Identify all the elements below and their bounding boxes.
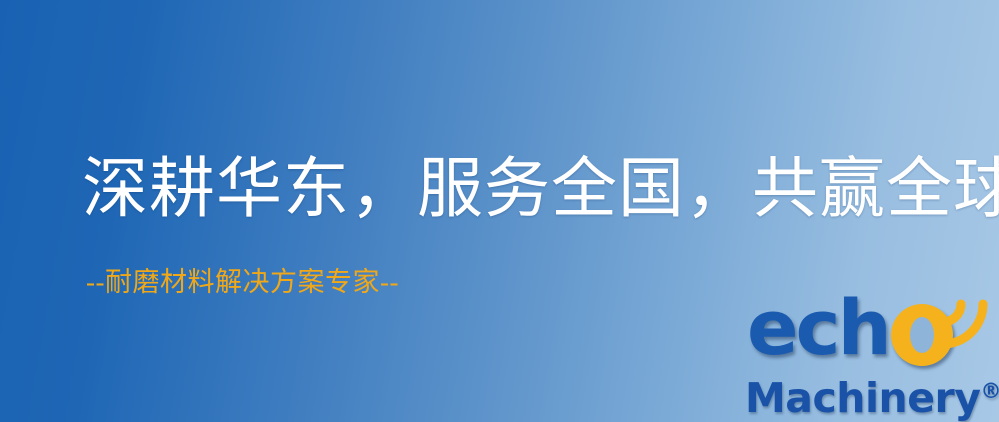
logo-machinery-label: Machinery (745, 374, 980, 422)
signal-waves-icon (931, 292, 999, 354)
registered-trademark-icon: ® (980, 379, 999, 403)
promotional-banner: 深耕华东，服务全国，共赢全球 --耐磨材料解决方案专家-- ech Machin… (0, 0, 999, 422)
logo-echo-text: ech (747, 290, 889, 366)
banner-subtitle: --耐磨材料解决方案专家-- (86, 266, 399, 298)
banner-headline: 深耕华东，服务全国，共赢全球 (82, 152, 999, 228)
logo-wordmark: ech (745, 296, 995, 368)
logo-machinery-text: Machinery® (745, 368, 999, 421)
echo-machinery-logo: ech Machinery® (745, 296, 995, 418)
